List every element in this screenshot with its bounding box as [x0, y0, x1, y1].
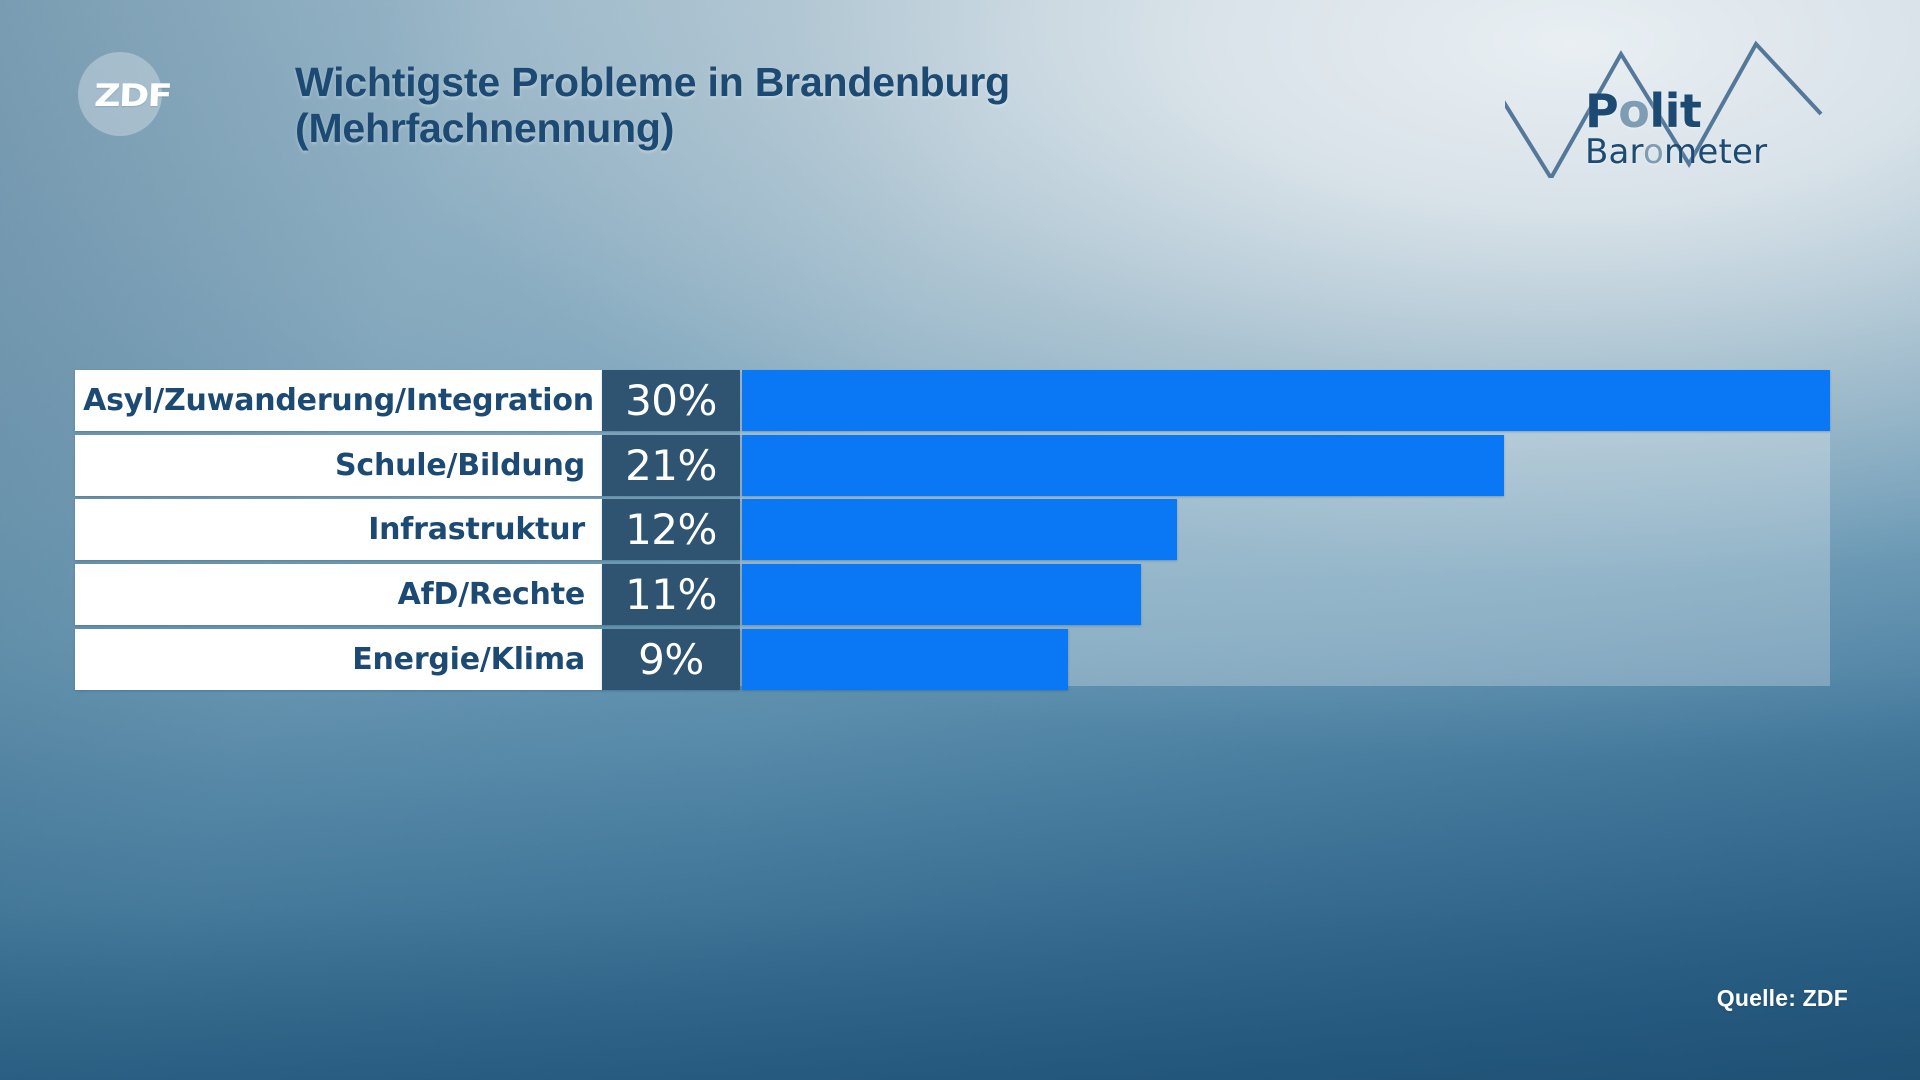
pb-bar: Bar	[1585, 132, 1643, 172]
bar-value-label: 21%	[602, 435, 740, 496]
bar-category-label: Schule/Bildung	[75, 435, 602, 496]
bar-rows: Asyl/Zuwanderung/Integration30%Schule/Bi…	[75, 370, 1830, 686]
table-row: Schule/Bildung21%	[75, 435, 1830, 496]
bar-track	[740, 435, 1830, 496]
bar-category-label: Energie/Klima	[75, 629, 602, 690]
bar-fill	[742, 629, 1068, 690]
pb-o2: o	[1643, 132, 1664, 172]
table-row: Asyl/Zuwanderung/Integration30%	[75, 370, 1830, 431]
table-row: AfD/Rechte11%	[75, 564, 1830, 625]
source-note: Quelle: ZDF	[1717, 985, 1848, 1012]
page-title: Wichtigste Probleme in Brandenburg (Mehr…	[295, 60, 1395, 152]
title-line-1: Wichtigste Probleme in Brandenburg	[295, 59, 1010, 105]
bar-value-label: 9%	[602, 629, 740, 690]
bar-value-label: 30%	[602, 370, 740, 431]
politbarometer-logo: Polit Barometer	[1505, 38, 1835, 178]
bar-fill	[742, 564, 1141, 625]
zdf-logo-icon: ZDF	[78, 52, 162, 136]
bar-chart: Asyl/Zuwanderung/Integration30%Schule/Bi…	[75, 370, 1830, 686]
bar-fill	[742, 370, 1830, 431]
bar-category-label: Asyl/Zuwanderung/Integration	[75, 370, 602, 431]
bar-track	[740, 499, 1830, 560]
pb-o1: o	[1618, 84, 1649, 138]
pb-p: P	[1585, 84, 1618, 138]
bar-track	[740, 564, 1830, 625]
bar-track	[740, 370, 1830, 431]
politbarometer-barometer: Barometer	[1585, 136, 1767, 168]
pb-lit: lit	[1649, 84, 1701, 138]
bar-value-label: 12%	[602, 499, 740, 560]
bar-category-label: Infrastruktur	[75, 499, 602, 560]
zdf-wordmark: ZDF	[93, 78, 171, 114]
table-row: Energie/Klima9%	[75, 629, 1830, 690]
title-line-2: (Mehrfachnennung)	[295, 106, 1395, 152]
bar-value-label: 11%	[602, 564, 740, 625]
bar-track	[740, 629, 1830, 690]
politbarometer-wordmark: Polit Barometer	[1585, 90, 1767, 168]
bar-fill	[742, 499, 1177, 560]
pb-meter: meter	[1664, 132, 1767, 172]
politbarometer-polit: Polit	[1585, 90, 1767, 134]
bar-category-label: AfD/Rechte	[75, 564, 602, 625]
bar-fill	[742, 435, 1504, 496]
table-row: Infrastruktur12%	[75, 499, 1830, 560]
